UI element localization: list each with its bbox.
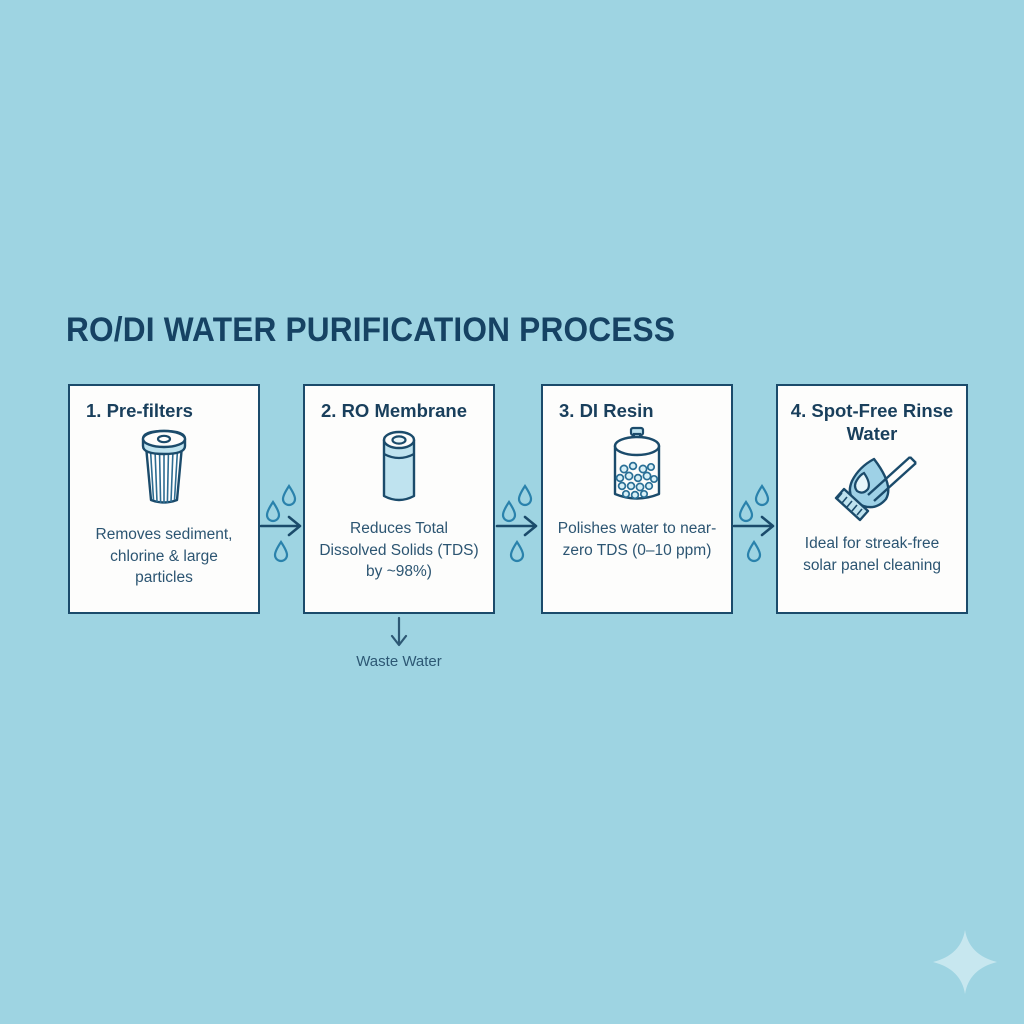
step-title: 2. RO Membrane <box>305 386 493 422</box>
process-flow: 1. Pre-filters <box>0 384 1024 616</box>
page-title: RO/DI WATER PURIFICATION PROCESS <box>66 309 675 351</box>
step-description: Polishes water to near-zero TDS (0–10 pp… <box>543 518 731 561</box>
step-title: 1. Pre-filters <box>70 386 258 422</box>
connector-2 <box>495 464 541 574</box>
waste-water-branch: Waste Water <box>303 616 495 672</box>
resin-tank-icon <box>600 426 674 512</box>
membrane-cylinder-icon <box>364 426 434 512</box>
diagram-canvas: RO/DI WATER PURIFICATION PROCESS 1. Pre-… <box>0 0 1024 1024</box>
filter-cartridge-icon <box>129 426 199 512</box>
step-card-ro-membrane[interactable]: 2. RO Membrane Reduces Total Dissolved S… <box>303 384 495 614</box>
sparkle-icon <box>930 927 1000 997</box>
connector-1 <box>259 464 305 574</box>
droplet-icon <box>740 486 768 561</box>
step-description: Removes sediment, chlorine & large parti… <box>70 524 258 589</box>
waste-water-label: Waste Water <box>303 652 495 672</box>
cleaning-brush-icon <box>824 445 920 525</box>
step-card-spot-free-rinse[interactable]: 4. Spot-Free Rinse Water <box>776 384 968 614</box>
arrow-right-icon <box>734 517 773 535</box>
step-description: Ideal for streak-free solar panel cleani… <box>778 533 966 576</box>
arrow-right-icon <box>497 517 536 535</box>
arrow-down-icon <box>387 616 411 650</box>
step-card-pre-filters[interactable]: 1. Pre-filters <box>68 384 260 614</box>
step-card-di-resin[interactable]: 3. DI Resin <box>541 384 733 614</box>
connector-3 <box>732 464 778 574</box>
arrow-right-icon <box>261 517 300 535</box>
step-title: 4. Spot-Free Rinse Water <box>778 386 966 445</box>
step-description: Reduces Total Dissolved Solids (TDS) by … <box>305 518 493 583</box>
droplet-icon <box>503 486 531 561</box>
step-title: 3. DI Resin <box>543 386 731 422</box>
droplet-icon <box>267 486 295 561</box>
